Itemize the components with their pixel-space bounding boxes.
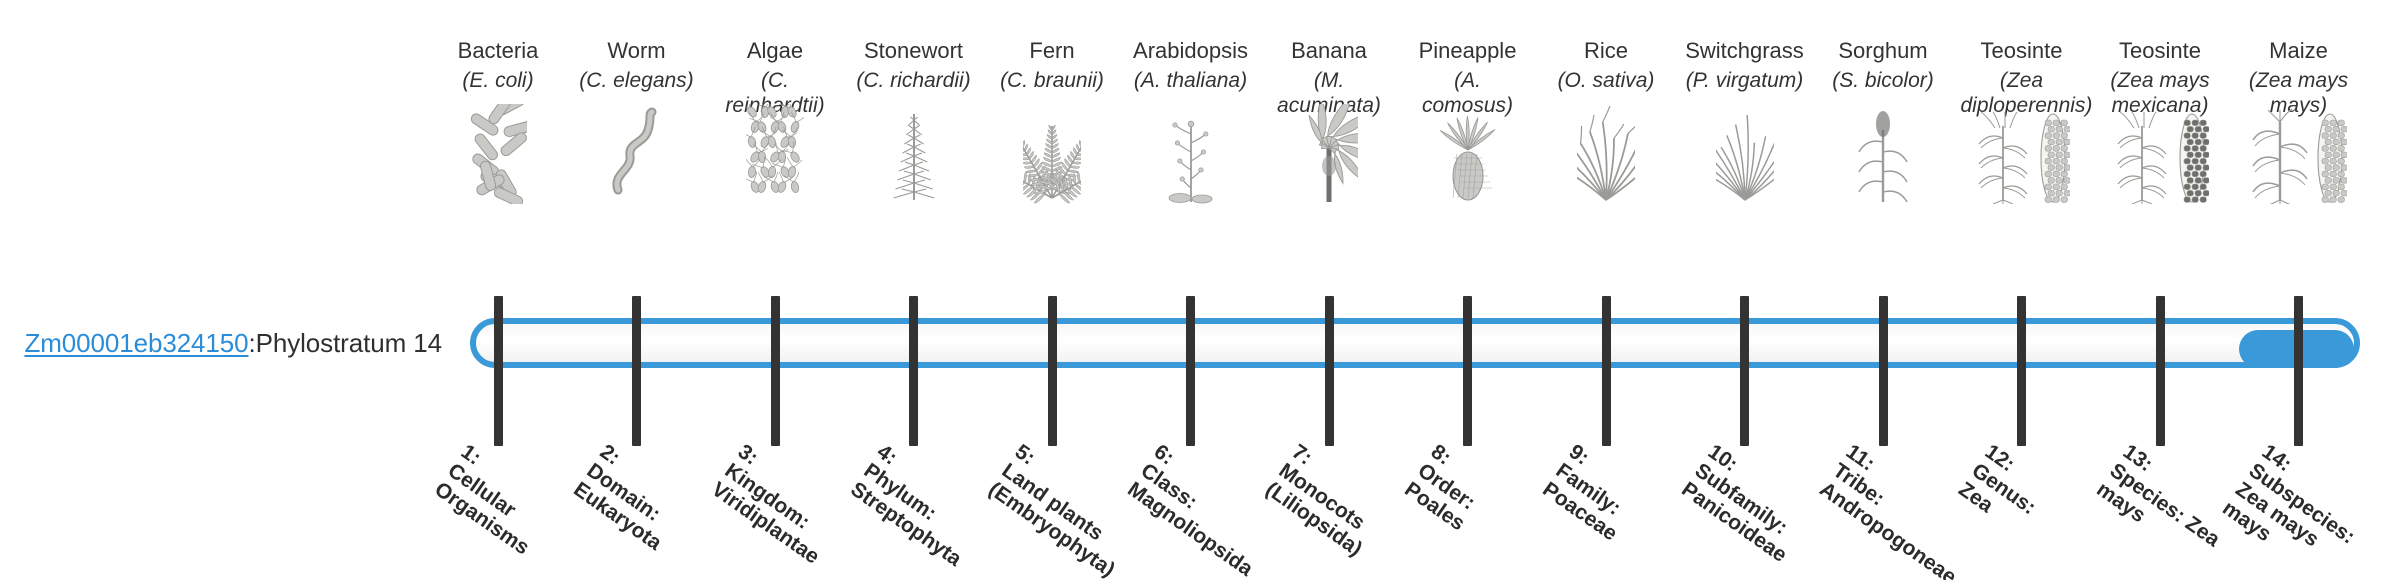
illustration-svg [1162,104,1220,204]
phylostratum-track-wrapper [470,318,2360,368]
illustration-svg [746,104,804,204]
species-scientific-name: (P. virgatum) [1684,68,1806,93]
species-common-name: Fern [991,38,1113,64]
species-scientific-name: (E. coli) [437,68,559,93]
illustration-svg [885,104,943,204]
species-common-name: Algae [714,38,836,64]
illustration-svg [1439,104,1497,204]
illustration-svg [2036,104,2070,204]
worm-illustration [576,112,698,204]
sorghum-illustration [1822,112,1944,204]
illustration-svg [2250,104,2310,204]
illustration-svg [1023,104,1081,204]
stonewort-illustration [853,112,975,204]
species-common-name: Switchgrass [1684,38,1806,64]
species-common-name: Arabidopsis [1130,38,1252,64]
illustration-svg [1854,104,1912,204]
illustration-svg [2112,104,2172,204]
illustration-svg [469,104,527,204]
species-common-name: Stonewort [853,38,975,64]
gene-id-link[interactable]: Zm00001eb324150 [24,328,248,359]
fern-illustration [991,112,1113,204]
species-scientific-name: (S. bicolor) [1822,68,1944,93]
species-common-name: Worm [576,38,698,64]
illustration-svg [2313,104,2347,204]
teosinte-mexicana-illustration [2099,112,2221,204]
phylostratum-fill-marker [2239,330,2355,368]
illustration-svg [2175,104,2209,204]
gene-label-separator: : [249,328,256,359]
illustration-svg [1716,104,1774,204]
species-common-name: Maize [2238,38,2360,64]
species-common-name: Rice [1545,38,1667,64]
species-common-name: Sorghum [1822,38,1944,64]
phylostratum-track[interactable] [470,318,2360,368]
pineapple-illustration [1407,112,1529,204]
species-common-name: Teosinte [1961,38,2083,64]
illustration-svg [608,104,666,204]
rice-illustration [1545,112,1667,204]
species-scientific-name: (C. braunii) [991,68,1113,93]
algae-illustration [714,112,836,204]
gene-phylostratum-value: Phylostratum 14 [256,328,442,359]
illustration-svg [1973,104,2033,204]
species-common-name: Banana [1268,38,1390,64]
species-common-name: Teosinte [2099,38,2221,64]
species-scientific-name: (C. richardii) [853,68,975,93]
illustration-svg [1300,104,1358,204]
banana-illustration [1268,112,1390,204]
species-common-name: Pineapple [1407,38,1529,64]
illustration-svg [1577,104,1635,204]
arabidopsis-illustration [1130,112,1252,204]
switchgrass-illustration [1684,112,1806,204]
species-common-name: Bacteria [437,38,559,64]
species-scientific-name: (C. elegans) [576,68,698,93]
gene-phylostratum-label: Zm00001eb324150: Phylostratum 14 [0,320,460,366]
phylostratigraphy-figure: Zm00001eb324150: Phylostratum 14 Bacteri… [0,0,2400,580]
teosinte-diploperennis-illustration [1961,112,2083,204]
species-scientific-name: (A. thaliana) [1130,68,1252,93]
species-scientific-name: (O. sativa) [1545,68,1667,93]
bacteria-illustration [437,112,559,204]
maize-illustration [2238,112,2360,204]
taxonomic-rank-label-group: 1: Cellular Organisms2: Domain: Eukaryot… [470,440,2360,580]
